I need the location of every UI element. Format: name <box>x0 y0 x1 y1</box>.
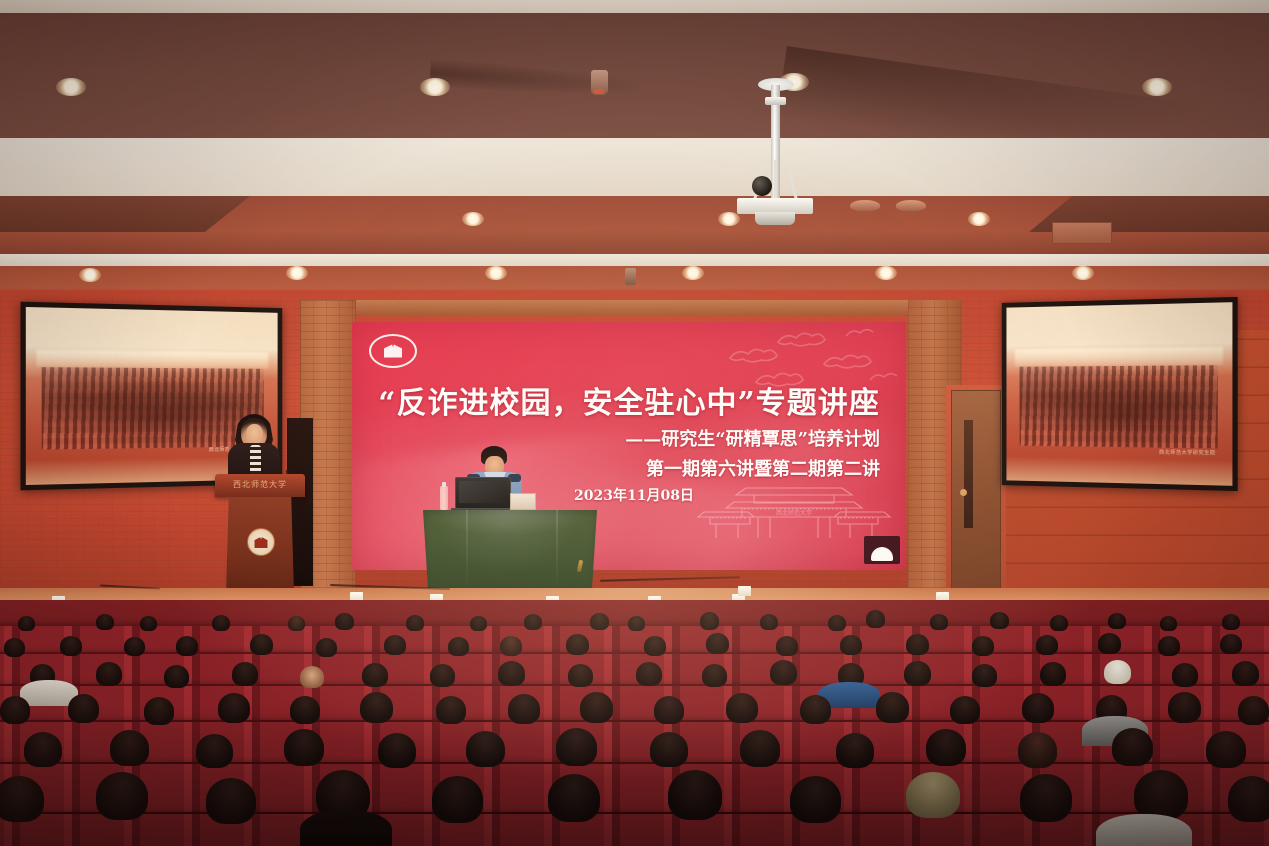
stage-spotlight <box>896 200 926 211</box>
audience-head <box>770 660 797 685</box>
audience-head <box>1112 728 1153 766</box>
seat-row[interactable] <box>0 686 1269 720</box>
audience-head <box>650 732 688 767</box>
audience-head <box>124 637 145 656</box>
audience-head <box>110 730 149 766</box>
audience-head <box>470 616 487 631</box>
audience-head <box>1050 615 1068 631</box>
audience-head <box>436 696 466 724</box>
audience-head <box>906 634 929 655</box>
audience-head <box>300 666 324 688</box>
university-emblem-icon <box>369 334 417 368</box>
laptop[interactable] <box>455 477 511 509</box>
audience-head <box>140 616 157 631</box>
audience-head <box>498 661 525 686</box>
audience-head <box>590 613 609 630</box>
ceiling-trim-top <box>0 0 1269 13</box>
audience-head <box>548 774 600 822</box>
seat-row[interactable] <box>0 814 1269 846</box>
audience-head <box>96 662 122 686</box>
audience-head <box>930 614 948 630</box>
audience-head-cap <box>1104 660 1131 684</box>
audience-head <box>0 776 44 822</box>
audience-head <box>250 634 273 655</box>
audience-seating <box>0 600 1269 846</box>
audience-head <box>1108 613 1126 629</box>
audience-head <box>1018 732 1057 768</box>
stage-edge-light <box>738 586 751 596</box>
audience-head <box>654 696 684 724</box>
seat-row[interactable] <box>0 654 1269 684</box>
audience-head <box>406 615 424 631</box>
audience-head <box>288 616 305 631</box>
audience-head <box>580 692 613 723</box>
ceiling-downlight <box>79 268 101 282</box>
ceiling-downlight <box>56 78 86 96</box>
screen-glare <box>1006 302 1232 486</box>
audience-head <box>232 662 258 686</box>
audience-head <box>556 728 597 766</box>
door-handle[interactable] <box>960 489 967 496</box>
audience-head <box>1238 696 1269 725</box>
banner-main-title: “反诈进校园，安全驻心中”专题讲座 <box>352 378 906 422</box>
ceiling-downlight <box>718 212 740 226</box>
audience-head <box>360 692 393 723</box>
audience-head <box>1134 770 1188 820</box>
audience-head <box>284 729 324 766</box>
podium-university-emblem-icon <box>247 528 275 556</box>
audience-head <box>432 776 483 823</box>
audience-head <box>568 664 593 687</box>
wall-lintel <box>300 300 962 316</box>
ceiling-camera-icon <box>752 176 772 196</box>
audience-head <box>176 636 198 656</box>
audience-head <box>1020 774 1072 822</box>
audience-head <box>972 636 994 656</box>
audience-head <box>706 633 729 654</box>
audience-head <box>384 635 406 655</box>
ceiling-downlight <box>420 78 450 96</box>
audience-head <box>790 776 841 823</box>
audience-head <box>760 614 778 630</box>
seat-row[interactable] <box>0 764 1269 812</box>
audience-head <box>212 615 230 631</box>
ceiling-downlight <box>286 266 308 280</box>
audience-head <box>4 638 25 657</box>
audience-head <box>500 636 522 656</box>
audience-head <box>448 637 469 656</box>
audience-head <box>24 732 62 767</box>
audience-head <box>990 612 1009 629</box>
table-cloth-fold <box>466 510 468 590</box>
audience-head <box>776 636 798 656</box>
audience-head <box>740 730 780 767</box>
audience-head <box>96 772 148 820</box>
audience-head <box>1036 635 1058 655</box>
water-bottle <box>440 486 448 511</box>
ceiling-vent <box>1052 222 1112 244</box>
smoke-detector-icon <box>591 70 608 95</box>
host-face <box>246 424 263 445</box>
audience-head <box>466 731 505 767</box>
audience-head <box>1098 633 1121 654</box>
audience-head <box>1228 776 1269 822</box>
audience-head <box>700 612 719 630</box>
audience-head <box>196 734 233 768</box>
smoke-detector-icon <box>625 268 636 285</box>
audience-head <box>144 697 174 725</box>
audience-head <box>950 696 980 724</box>
audience-head <box>800 695 831 724</box>
audience-head <box>866 610 885 628</box>
podium-top: 西北师范大学 <box>215 474 305 497</box>
audience-head <box>524 614 542 630</box>
audience-head <box>164 665 189 688</box>
audience-shoulders <box>1096 814 1192 846</box>
audience-head <box>1222 614 1240 630</box>
audience-head <box>362 663 388 687</box>
stage-spotlight <box>850 200 880 211</box>
ceiling-downlight <box>462 212 484 226</box>
audience-head <box>876 692 909 723</box>
audience-head <box>726 693 758 723</box>
audience-head <box>218 693 250 723</box>
audience-head <box>1172 663 1198 687</box>
audience-shoulders <box>300 810 392 846</box>
audience-head <box>644 636 666 656</box>
audience-head <box>430 664 455 687</box>
ceiling-downlight <box>968 212 990 226</box>
table-cloth-fold <box>556 510 558 590</box>
audience-head <box>926 729 966 766</box>
audience-head <box>566 634 589 655</box>
audience-head <box>1158 636 1180 656</box>
audience-head <box>316 638 337 657</box>
audience-head <box>904 661 931 686</box>
ceiling-trim-mid <box>0 254 1269 266</box>
audience-head <box>840 635 862 655</box>
audience-head <box>1022 693 1054 723</box>
audience-head <box>1040 662 1066 686</box>
audience-head <box>378 733 416 768</box>
audience-head <box>836 733 874 768</box>
ceiling-downlight <box>1072 266 1094 280</box>
audience-head <box>1206 731 1246 768</box>
audience-head <box>60 636 82 656</box>
audience-head <box>206 778 256 824</box>
podium-front-text: 西北师范大学 <box>215 479 305 490</box>
audience-head <box>628 616 645 631</box>
audience-head <box>96 614 114 630</box>
audience-head-cap <box>906 772 960 818</box>
banner-date: 2023年11月08日 <box>574 485 694 505</box>
projector-lens <box>755 212 795 225</box>
audience-head <box>828 615 846 631</box>
table-cloth-highlight <box>423 510 597 536</box>
campus-gate-illustration-icon: 西北师范大学 <box>694 472 894 538</box>
laptop-screen <box>459 481 507 503</box>
banner-subtitle-1: ——研究生“研精覃思”培养计划 <box>625 425 880 451</box>
audience-head <box>668 770 722 820</box>
audience-head <box>636 662 662 686</box>
arch-badge-icon <box>864 536 900 564</box>
projector-pole-collar <box>765 97 786 105</box>
ceiling-downlight <box>485 266 507 280</box>
audience-head <box>1232 661 1259 686</box>
audience-head <box>972 664 997 687</box>
audience-head <box>68 694 99 723</box>
ceiling-downlight <box>1142 78 1172 96</box>
projection-screen-right: 西北师范大学研究生院 <box>1002 297 1238 491</box>
audience-head <box>1160 616 1177 631</box>
seat-row[interactable] <box>0 722 1269 762</box>
audience-head <box>0 696 30 724</box>
host-scarf <box>250 445 261 477</box>
audience-head <box>1220 634 1242 654</box>
ceiling-panel-light <box>0 138 1269 196</box>
gate-plaque-text: 西北师范大学 <box>776 509 812 517</box>
audience-head <box>18 616 35 631</box>
ceiling-downlight <box>875 266 897 280</box>
audience-head <box>335 613 354 630</box>
ceiling-downlight <box>682 266 704 280</box>
audience-head <box>290 696 320 724</box>
audience-head <box>1168 692 1201 723</box>
audience-head <box>702 664 727 687</box>
name-card <box>510 493 536 510</box>
audience-head <box>508 694 540 724</box>
auditorium-photo: “反诈进校园，安全驻心中”专题讲座 ——研究生“研精覃思”培养计划 第一期第六讲… <box>0 0 1269 846</box>
stage-door-right[interactable] <box>951 390 1001 593</box>
door-glass-panel <box>964 420 973 528</box>
